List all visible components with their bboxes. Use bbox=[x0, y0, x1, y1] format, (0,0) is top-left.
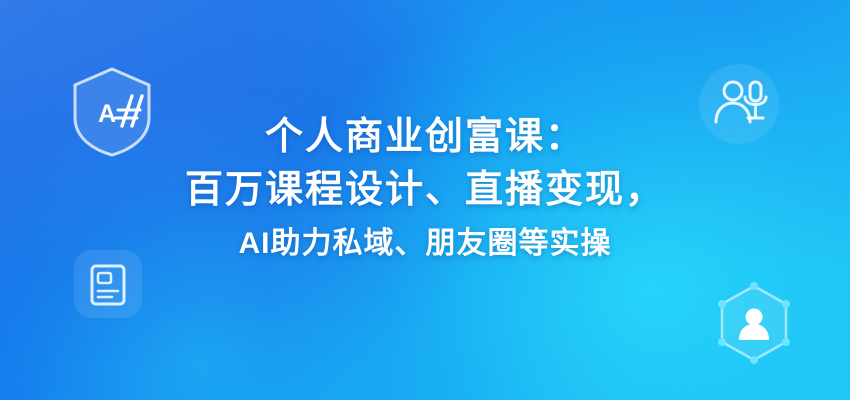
title-line-3: AI助力私域、朋友圈等实操 bbox=[0, 218, 850, 270]
title-line-1: 个人商业创富课： bbox=[0, 112, 850, 162]
person-hexagon-icon bbox=[706, 276, 802, 372]
title-line-2: 百万课程设计、直播变现， bbox=[0, 162, 850, 218]
banner-title: 个人商业创富课： 百万课程设计、直播变现， AI助力私域、朋友圈等实操 bbox=[0, 112, 850, 270]
course-banner: A bbox=[0, 0, 850, 400]
